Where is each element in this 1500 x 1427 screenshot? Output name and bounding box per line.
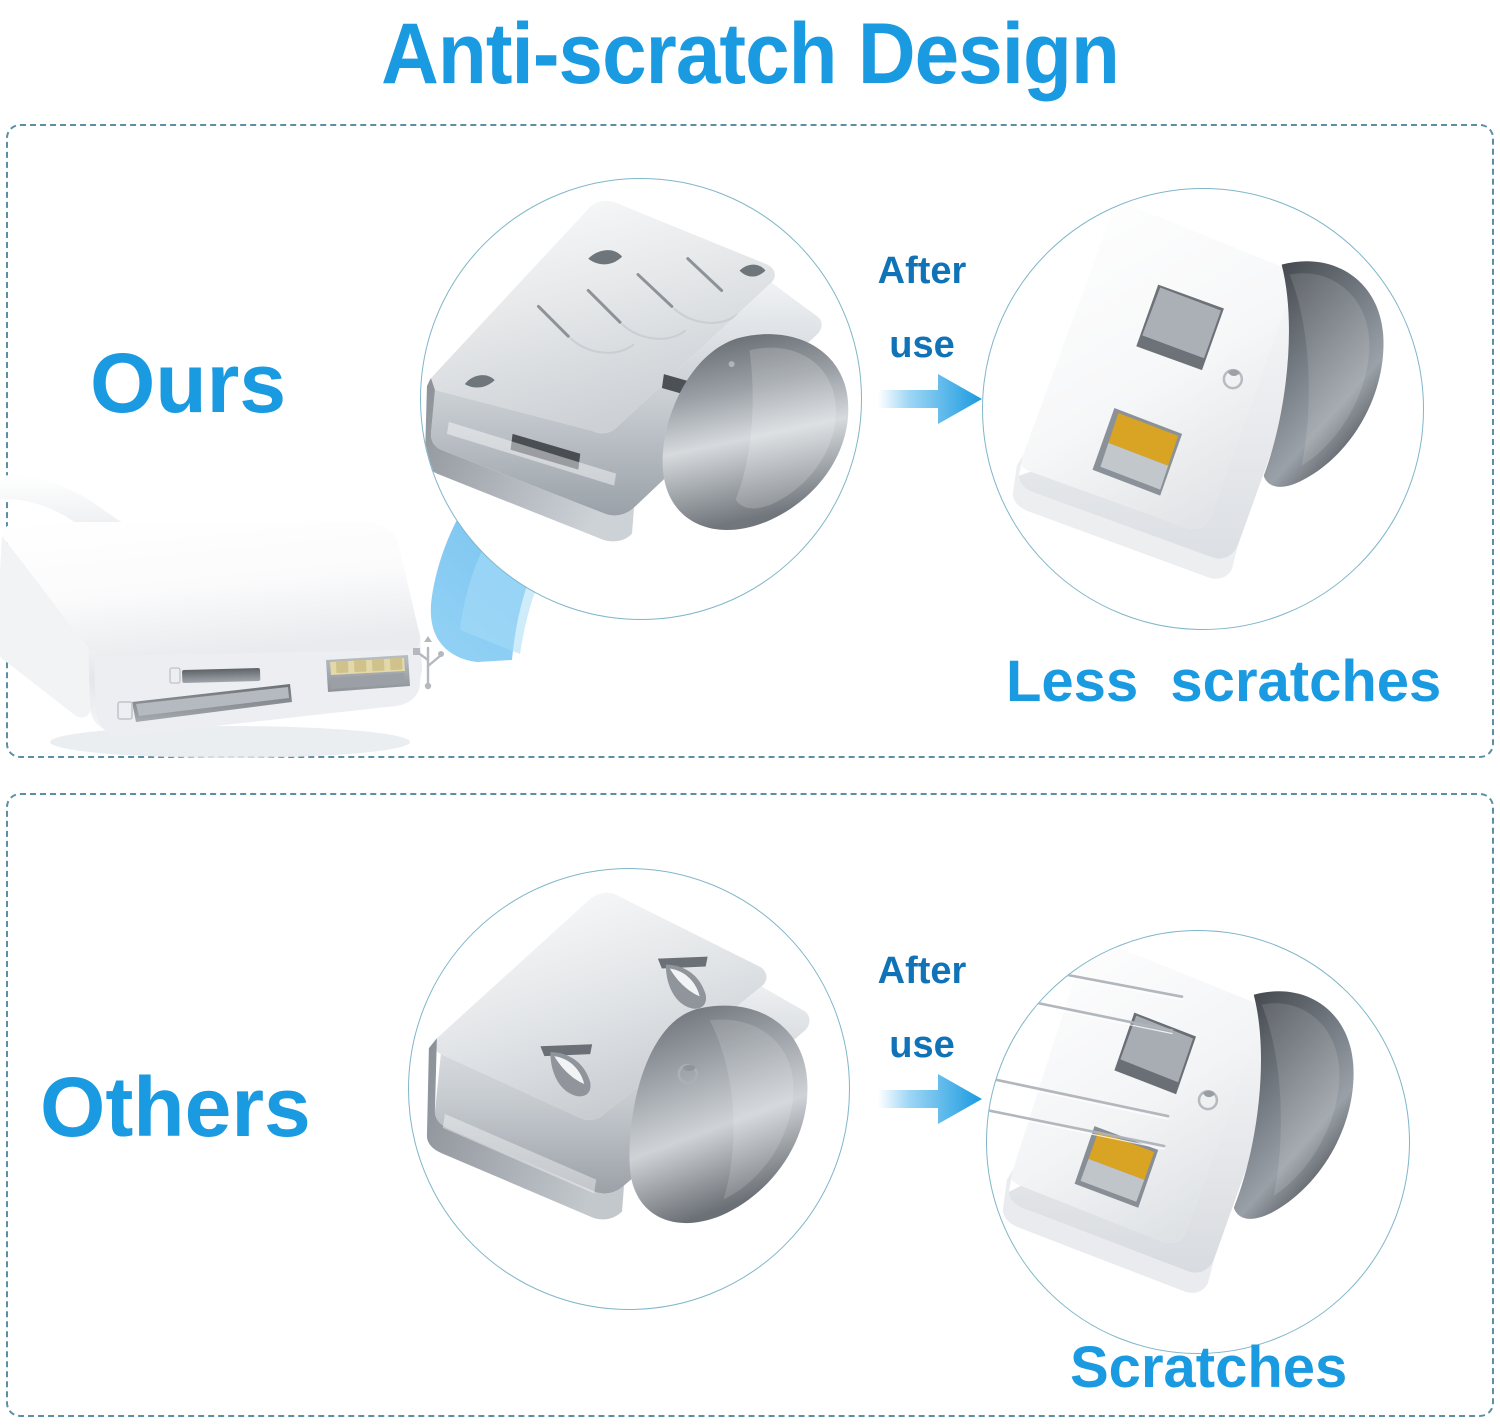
ours-usb-port-result-illustration (983, 189, 1423, 629)
page-title: Anti-scratch Design (53, 2, 1448, 106)
ours-usb-connector-illustration (421, 179, 861, 619)
circle-ours-connector (420, 178, 862, 620)
others-usb-connector-illustration (409, 869, 849, 1309)
caption-ours-result: Less scratches (1006, 650, 1441, 714)
infographic-page: Anti-scratch Design Ours (0, 0, 1500, 1427)
side-label-others: Others (40, 1062, 311, 1152)
right-arrow-icon (876, 368, 986, 430)
side-label-ours: Ours (90, 338, 286, 428)
after-use-line1: After (862, 248, 982, 294)
product-card-reader (0, 470, 490, 760)
others-usb-port-result-illustration (987, 931, 1409, 1353)
right-arrow-icon (876, 1068, 986, 1130)
after-use-line2: use (862, 322, 982, 368)
after-use-line2: use (862, 1022, 982, 1068)
after-use-line1: After (862, 948, 982, 994)
circle-others-result (986, 930, 1410, 1354)
after-use-label-others: After use (862, 948, 982, 1068)
caption-others-result: Scratches (1070, 1336, 1347, 1400)
circle-ours-result (982, 188, 1424, 630)
circle-others-connector (408, 868, 850, 1310)
after-use-label-ours: After use (862, 248, 982, 368)
